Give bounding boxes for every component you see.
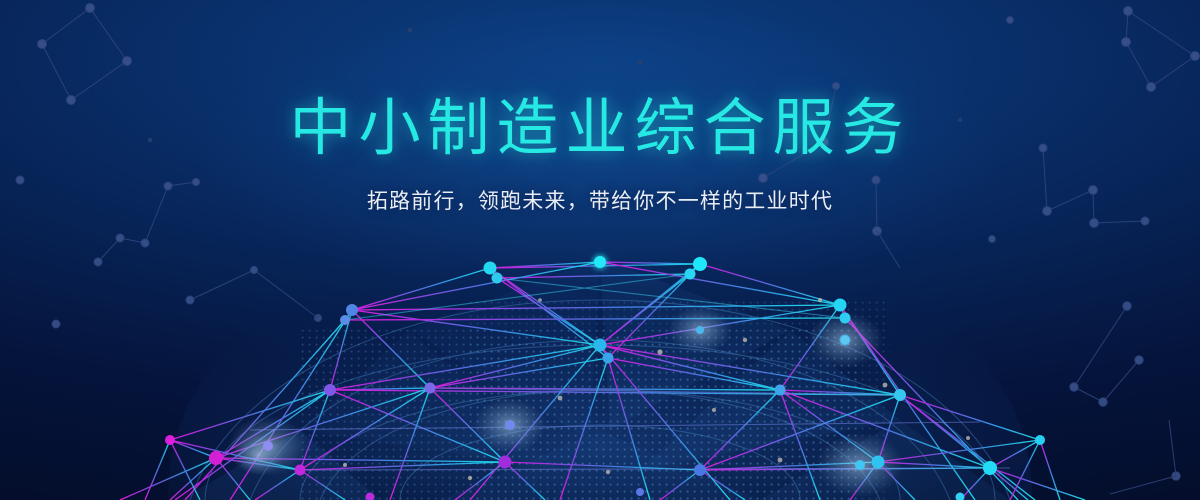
page-title: 中小制造业综合服务: [0, 96, 1200, 161]
page-subtitle: 拓路前行，领跑未来，带给你不一样的工业时代: [0, 185, 1200, 215]
dome-network-graph: [0, 0, 1200, 500]
hero-text-block: 中小制造业综合服务 拓路前行，领跑未来，带给你不一样的工业时代: [0, 96, 1200, 215]
hero-banner: 中小制造业综合服务 拓路前行，领跑未来，带给你不一样的工业时代: [0, 0, 1200, 500]
